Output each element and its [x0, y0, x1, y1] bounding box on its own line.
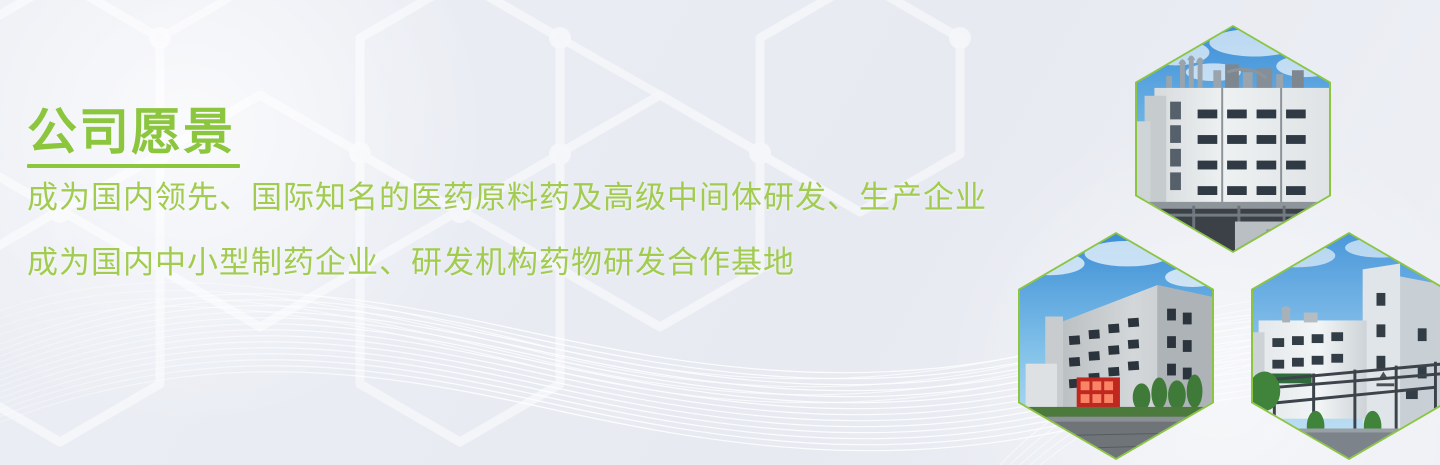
vision-text-block: 公司愿景 成为国内领先、国际知名的医药原料药及高级中间体研发、生产企业 成为国内… — [27, 104, 1047, 282]
hexagon-photo-pharmaceutical-workshop — [1135, 25, 1331, 253]
page-title: 公司愿景 — [27, 104, 1047, 160]
title-underline — [27, 164, 240, 168]
hexagon-photo-cluster — [1000, 0, 1440, 465]
hexagon-photo-plant-pipe-rack — [1251, 232, 1440, 460]
photo-pharmaceutical-workshop-building — [1137, 27, 1329, 251]
vision-statement-line-2: 成为国内中小型制药企业、研发机构药物研发合作基地 — [27, 244, 1047, 282]
photo-production-plant-with-pipe-rack — [1253, 234, 1440, 458]
hexagon-photo-factory-led-sign — [1018, 232, 1214, 460]
vision-statement-line-1: 成为国内领先、国际知名的医药原料药及高级中间体研发、生产企业 — [27, 179, 1047, 217]
photo-factory-building-with-led-sign — [1020, 234, 1212, 458]
company-vision-banner: 公司愿景 成为国内领先、国际知名的医药原料药及高级中间体研发、生产企业 成为国内… — [0, 0, 1440, 465]
